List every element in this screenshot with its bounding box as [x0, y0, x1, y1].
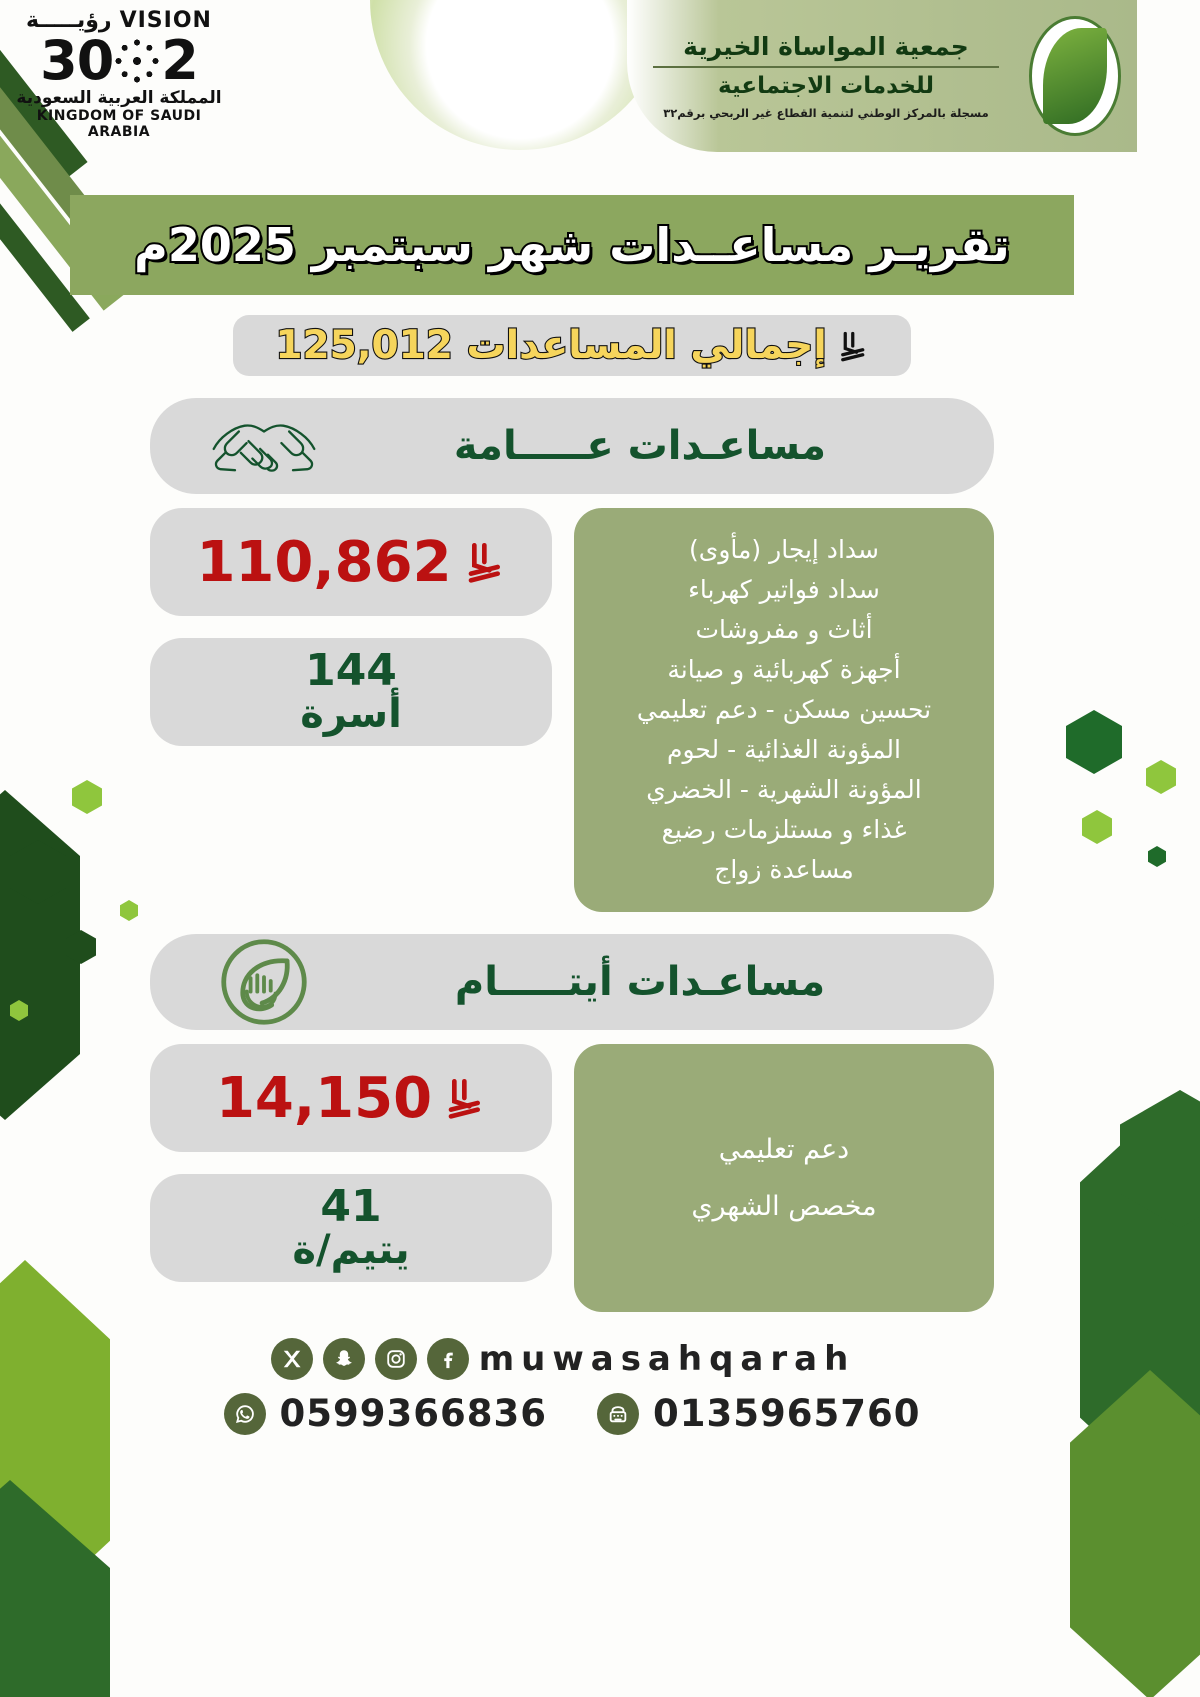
org-registration-note: مسجلة بالمركز الوطني لتنمية القطاع غير ا…: [627, 106, 1025, 120]
list-item: سداد فواتير كهرباء: [600, 570, 968, 610]
kingdom-label-arabic: المملكة العربية السعودية: [14, 88, 224, 108]
infographic-page: VISION رؤيـــــة 2 30 المملكة العربية ال…: [62, 0, 1082, 1697]
organization-emblem-icon: [1029, 16, 1121, 136]
general-beneficiaries-count: 144: [300, 649, 402, 694]
list-item: دعم تعليمي: [600, 1128, 968, 1171]
general-beneficiaries-unit: أسرة: [300, 694, 402, 735]
organization-logo: جمعية المواساة الخيرية للخدمات الاجتماعي…: [627, 0, 1137, 152]
page-title: تقريـر مساعــدات شهر سبتمبر 2025م: [120, 219, 1024, 272]
list-item: سداد إيجار (مأوى): [600, 530, 968, 570]
total-assistance-label: إجمالي المساعدات 125,012: [275, 323, 826, 368]
orphans-assistance-list: دعم تعليمي مخصص الشهري: [574, 1044, 994, 1312]
list-item: أثاث و مفروشات: [600, 610, 968, 650]
header: VISION رؤيـــــة 2 30 المملكة العربية ال…: [62, 0, 1082, 175]
mobile-number: 0599366836: [280, 1392, 547, 1435]
vision-emblem-icon: [115, 39, 159, 83]
orphans-amount-pill: 14,150: [150, 1044, 552, 1152]
list-item: أجهزة كهربائية و صيانة: [600, 650, 968, 690]
hexagon-decoration: [10, 840, 66, 904]
general-assistance-list: سداد إيجار (مأوى) سداد فواتير كهرباء أثا…: [574, 508, 994, 912]
list-item: غذاء و مستلزمات رضيع: [600, 810, 968, 850]
org-name-line1: جمعية المواساة الخيرية: [627, 32, 1025, 61]
instagram-icon[interactable]: [375, 1338, 417, 1380]
hexagon-decoration: [1148, 846, 1166, 867]
saudi-riyal-icon: [446, 1075, 486, 1121]
social-handle: muwasahqarah: [479, 1339, 856, 1379]
footer-contact: muwasahqarah 0599366836 0135965760: [62, 1338, 1082, 1435]
hexagon-decoration: [1120, 1090, 1200, 1228]
general-beneficiaries-pill: 144 أسرة: [150, 638, 552, 746]
snapchat-icon[interactable]: [323, 1338, 365, 1380]
facebook-icon[interactable]: [427, 1338, 469, 1380]
hexagon-decoration: [1082, 810, 1112, 844]
orphans-beneficiaries-unit: يتيم/ة: [292, 1230, 409, 1271]
orphans-beneficiaries-pill: 41 يتيم/ة: [150, 1174, 552, 1282]
general-amount-value: 110,862: [196, 530, 451, 595]
org-divider: [653, 66, 999, 68]
vision-year-left: 2: [161, 35, 198, 86]
list-item: المؤونة الشهرية - الخضري: [600, 770, 968, 810]
hand-leaf-icon: [204, 945, 324, 1019]
whatsapp-icon[interactable]: [224, 1393, 266, 1435]
list-item: المؤونة الغذائية - لحوم: [600, 730, 968, 770]
x-twitter-icon[interactable]: [271, 1338, 313, 1380]
section-title-orphans: مساعـدات أيتـــــام: [324, 959, 956, 1005]
org-name-line2: للخدمات الاجتماعية: [627, 73, 1025, 99]
report-title-banner: تقريـر مساعــدات شهر سبتمبر 2025م: [70, 195, 1074, 295]
hexagon-decoration: [1146, 760, 1176, 794]
orphans-amount-value: 14,150: [216, 1066, 432, 1131]
list-item: مساعدة زواج: [600, 850, 968, 890]
list-item: مخصص الشهري: [600, 1185, 968, 1228]
handshake-icon: [204, 409, 324, 483]
section-header-orphans: مساعـدات أيتـــــام: [150, 934, 994, 1030]
section-title-general: مساعـدات عـــــامة: [324, 423, 956, 469]
section-header-general: مساعـدات عـــــامة: [150, 398, 994, 494]
list-item: تحسين مسكن - دعم تعليمي: [600, 690, 968, 730]
kingdom-label-english: KINGDOM OF SAUDI ARABIA: [14, 108, 224, 140]
hexagon-decoration: [10, 1000, 28, 1021]
saudi-riyal-icon: [466, 539, 506, 585]
orphans-beneficiaries-count: 41: [292, 1185, 409, 1230]
general-amount-pill: 110,862: [150, 508, 552, 616]
saudi-riyal-icon: [839, 329, 869, 363]
hexagon-decoration: [1080, 1090, 1200, 1510]
landline-number: 0135965760: [653, 1392, 920, 1435]
vision-2030-logo: VISION رؤيـــــة 2 30 المملكة العربية ال…: [14, 8, 224, 140]
total-assistance-pill: إجمالي المساعدات 125,012: [233, 315, 910, 376]
hexagon-decoration: [1070, 1370, 1200, 1697]
telephone-icon[interactable]: [597, 1393, 639, 1435]
vision-year-right: 30: [40, 35, 113, 86]
